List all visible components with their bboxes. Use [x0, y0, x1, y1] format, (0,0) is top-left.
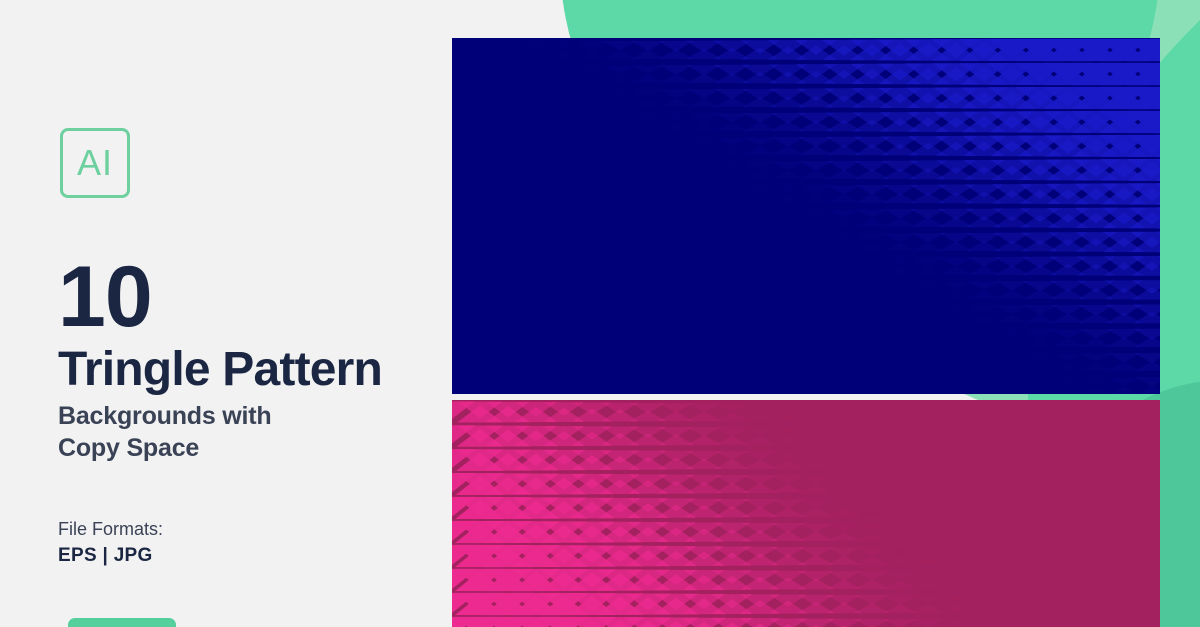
info-column: AI 10 Tringle Pattern Backgrounds with C… [0, 0, 452, 627]
pink-triangle-pattern [452, 400, 1160, 627]
promo-banner: AI 10 Tringle Pattern Backgrounds with C… [0, 0, 1200, 627]
page-subtitle: Backgrounds with Copy Space [58, 400, 272, 464]
ai-file-badge-icon: AI [60, 128, 130, 198]
navy-triangle-preview[interactable] [452, 38, 1160, 394]
ai-badge-label: AI [77, 145, 113, 181]
file-formats: File Formats: EPS | JPG [58, 516, 163, 570]
page-title: Tringle Pattern [58, 346, 382, 394]
page-subtitle-line-1: Backgrounds with [58, 400, 272, 432]
page-subtitle-line-2: Copy Space [58, 432, 272, 464]
file-formats-label: File Formats: [58, 516, 163, 542]
cta-button[interactable] [68, 618, 176, 627]
navy-triangle-pattern [452, 38, 1160, 394]
pink-triangle-preview[interactable] [452, 400, 1160, 627]
item-count: 10 [58, 254, 152, 340]
file-formats-value: EPS | JPG [58, 542, 163, 570]
